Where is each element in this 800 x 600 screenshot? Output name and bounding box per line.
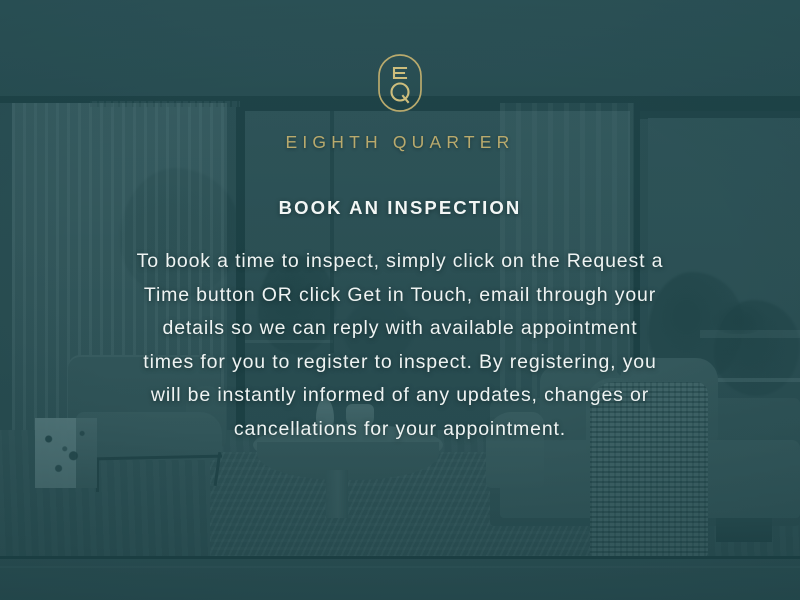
body-line: Time button OR click Get in Touch, email… [90, 279, 710, 313]
page-title: BOOK AN INSPECTION [279, 197, 522, 219]
body-line: cancellations for your appointment. [90, 413, 710, 447]
hero-content: EIGHTH QUARTER BOOK AN INSPECTION To boo… [0, 0, 800, 600]
body-line: To book a time to inspect, simply click … [90, 245, 710, 279]
page-root: EIGHTH QUARTER BOOK AN INSPECTION To boo… [0, 0, 800, 600]
body-line: details so we can reply with available a… [90, 312, 710, 346]
body-copy: To book a time to inspect, simply click … [90, 245, 710, 446]
brand-lockup[interactable]: EIGHTH QUARTER [285, 52, 514, 153]
body-line: times for you to register to inspect. By… [90, 346, 710, 380]
eighth-quarter-monogram-icon [375, 52, 425, 119]
brand-wordmark: EIGHTH QUARTER [285, 132, 514, 153]
body-line: will be instantly informed of any update… [90, 379, 710, 413]
